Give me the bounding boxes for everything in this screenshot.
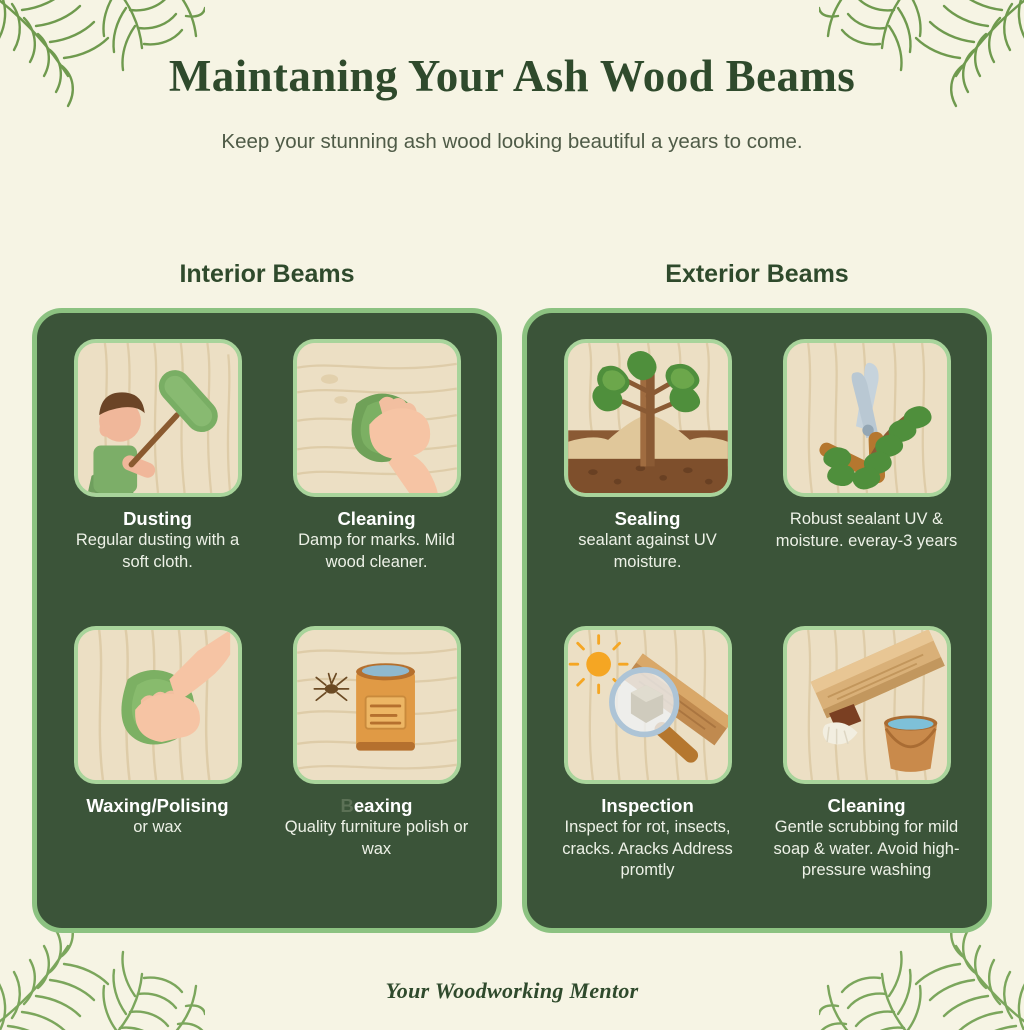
- tree-in-soil-icon: [568, 343, 728, 493]
- wax-can-insect-icon: [297, 630, 457, 780]
- thumbnail-cleaning-exterior: [783, 626, 951, 784]
- column-heading-exterior: Exterior Beams: [522, 260, 992, 289]
- exterior-beams-panel: Sealing sealant against UV moisture.: [522, 308, 992, 933]
- page-title: Maintaning Your Ash Wood Beams: [0, 50, 1024, 102]
- page-subtitle: Keep your stunning ash wood looking beau…: [0, 130, 1024, 154]
- card-waxing[interactable]: Beaxing Quality furniture polish or wax: [274, 626, 479, 909]
- column-heading-interior: Interior Beams: [32, 260, 502, 289]
- hand-polishing-cloth-icon: [78, 630, 238, 780]
- card-sealing[interactable]: Sealing sealant against UV moisture.: [545, 339, 750, 622]
- infographic-page: Maintaning Your Ash Wood Beams Keep your…: [0, 0, 1024, 1024]
- card-title: Dusting: [123, 508, 192, 529]
- card-description: Damp for marks. Mild wood cleaner.: [282, 530, 472, 574]
- card-description: Robust sealant UV & moisture. everay-3 y…: [764, 509, 969, 553]
- magnifier-beam-sun-icon: [568, 630, 728, 780]
- card-cleaning-interior[interactable]: Cleaning Damp for marks. Mild wood clean…: [274, 339, 479, 622]
- hand-cloth-wiping-icon: [297, 343, 457, 493]
- card-dusting[interactable]: Dusting Regular dusting with a soft clot…: [55, 339, 260, 622]
- thumbnail-dusting: [74, 339, 242, 497]
- thumbnail-sealing: [564, 339, 732, 497]
- card-robust-sealant[interactable]: Robust sealant UV & moisture. everay-3 y…: [764, 339, 969, 622]
- card-cleaning-exterior[interactable]: Cleaning Gentle scrubbing for mild soap …: [764, 626, 969, 909]
- card-description: or wax: [133, 817, 182, 839]
- card-description: Quality furniture polish or wax: [282, 817, 472, 861]
- thumbnail-inspection: [564, 626, 732, 784]
- card-title: Cleaning: [337, 508, 415, 529]
- beam-brush-bucket-icon: [787, 630, 947, 780]
- card-title: Cleaning: [827, 795, 905, 816]
- card-title: Beaxing: [341, 795, 413, 816]
- card-description: Regular dusting with a soft cloth.: [63, 530, 253, 574]
- person-dusting-icon: [78, 343, 238, 493]
- card-title: Sealing: [615, 508, 681, 529]
- card-description: sealant against UV moisture.: [553, 530, 743, 574]
- card-waxing-polishing[interactable]: Waxing/Polising or wax: [55, 626, 260, 909]
- pruning-shears-branch-icon: [787, 343, 947, 493]
- thumbnail-pruning-shears: [783, 339, 951, 497]
- card-title: Inspection: [601, 795, 694, 816]
- card-description: Gentle scrubbing for mild soap & water. …: [764, 817, 969, 882]
- card-title: Waxing/Polising: [86, 795, 228, 816]
- footer-brand: Your Woodworking Mentor: [0, 978, 1024, 1004]
- thumbnail-waxing-can: [293, 626, 461, 784]
- thumbnail-cleaning-interior: [293, 339, 461, 497]
- card-inspection[interactable]: Inspection Inspect for rot, insects, cra…: [545, 626, 750, 909]
- interior-beams-panel: Dusting Regular dusting with a soft clot…: [32, 308, 502, 933]
- thumbnail-waxing-polishing: [74, 626, 242, 784]
- card-description: Inspect for rot, insects, cracks. Aracks…: [545, 817, 750, 882]
